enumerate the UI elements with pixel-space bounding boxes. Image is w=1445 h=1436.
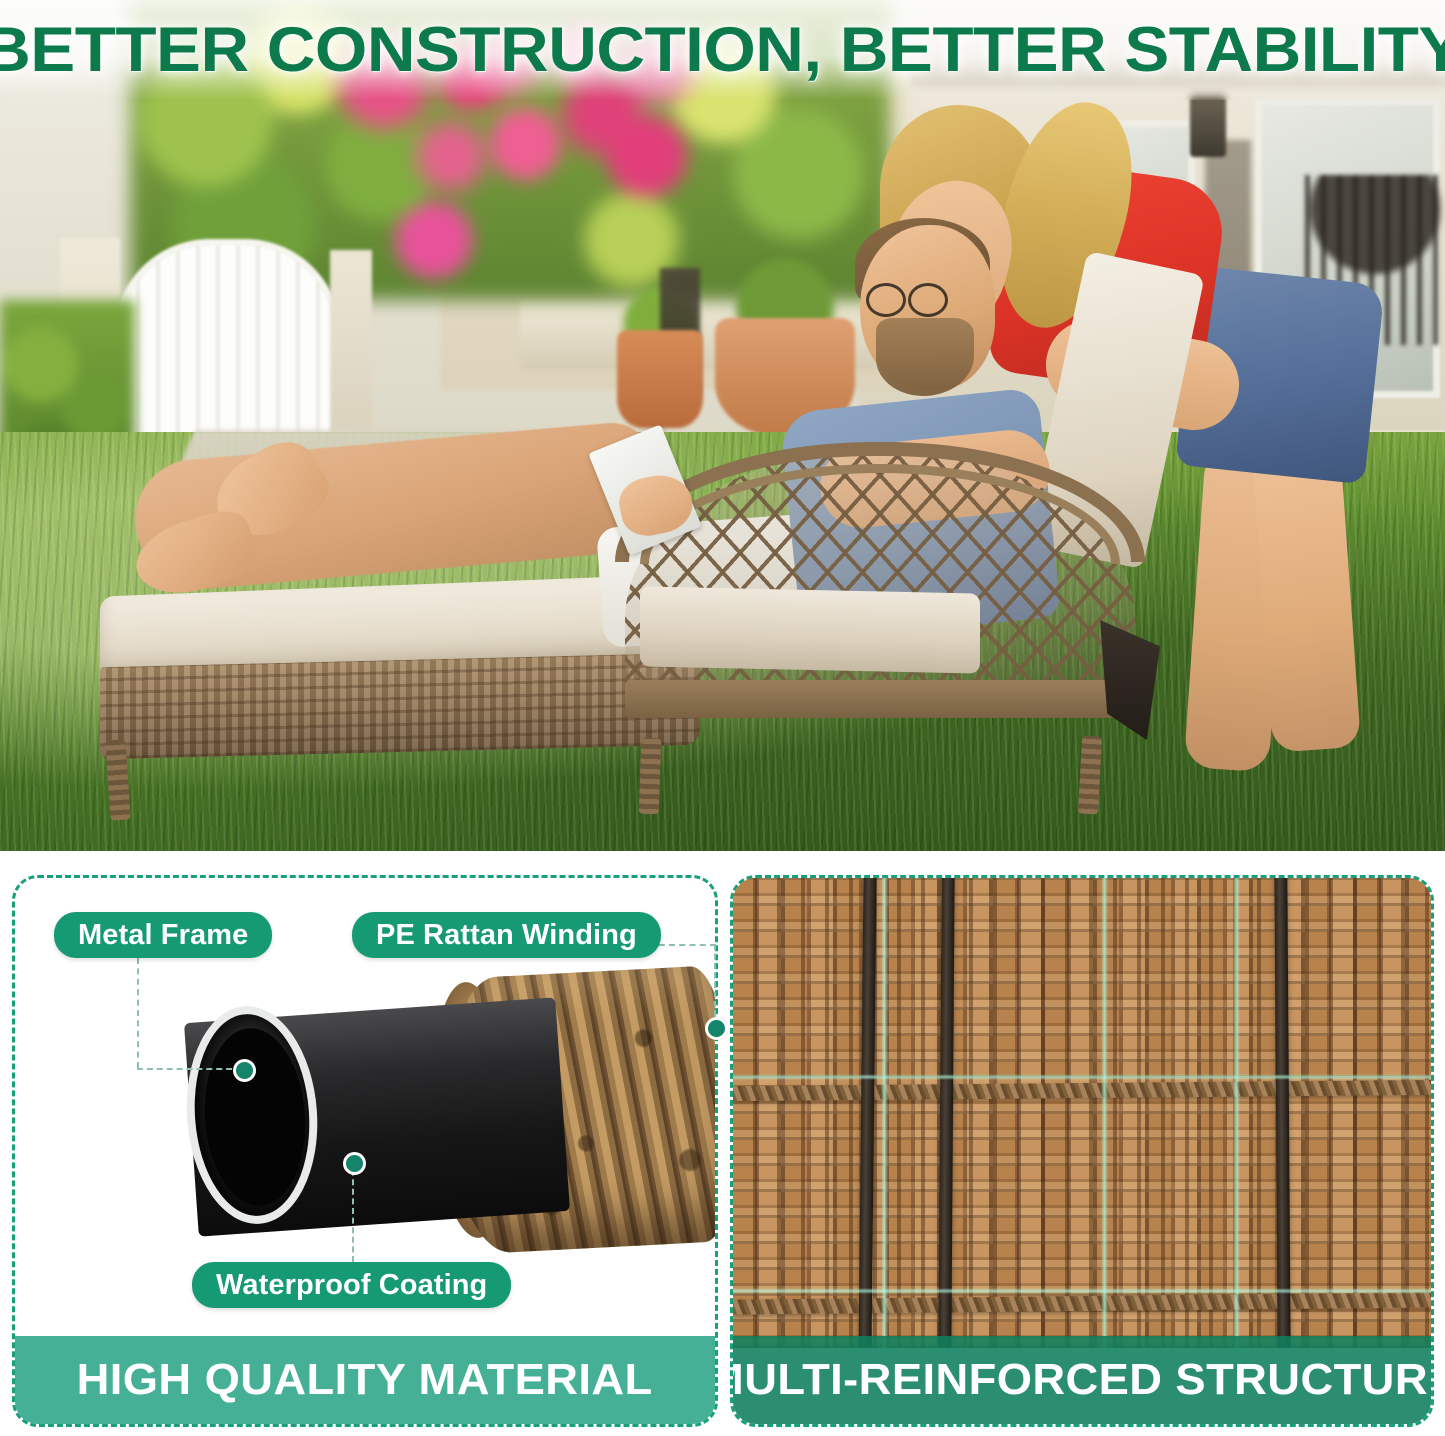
callout-dot-waterproof	[343, 1152, 366, 1175]
leader-line-waterproof-vertical	[352, 1160, 354, 1262]
highlight-glow	[733, 1074, 1434, 1080]
highlight-glow	[881, 878, 888, 1348]
caption-text: MULTI-REINFORCED STRUCTURE	[730, 1355, 1434, 1405]
callout-dot-pe-rattan	[705, 1017, 728, 1040]
porch-lamp	[1190, 95, 1226, 157]
leader-line-metal-frame-horizontal	[137, 1068, 242, 1070]
hero-lifestyle-photo	[0, 0, 1445, 851]
callout-label-pe-rattan-winding[interactable]: PE Rattan Winding	[352, 912, 661, 958]
page-title: BETTER CONSTRUCTION, BETTER STABILITY	[0, 14, 1445, 86]
callout-label-waterproof-coating[interactable]: Waterproof Coating	[192, 1262, 511, 1308]
rattan-weave-brick-pattern	[733, 878, 1434, 1348]
callout-label-text: PE Rattan Winding	[376, 919, 637, 952]
caption-text: HIGH QUALITY MATERIAL	[77, 1355, 653, 1405]
recliner-bracket	[1100, 620, 1160, 740]
leader-line-metal-frame-vertical	[137, 958, 139, 1068]
panel-multi-reinforced-structure: MULTI-REINFORCED STRUCTURE	[730, 875, 1434, 1427]
hero-photo-section: BETTER CONSTRUCTION, BETTER STABILITY	[0, 0, 1445, 851]
callout-label-text: Waterproof Coating	[216, 1269, 487, 1302]
seat-cushion-rear	[640, 586, 980, 673]
callout-dot-metal-frame	[233, 1059, 256, 1082]
eyeglasses-icon	[866, 283, 952, 313]
terracotta-pot	[617, 330, 703, 428]
highlight-glow	[1233, 878, 1240, 1348]
callout-label-text: Metal Frame	[78, 919, 248, 952]
product-infographic-page: BETTER CONSTRUCTION, BETTER STABILITY HI…	[0, 0, 1445, 1436]
callout-label-metal-frame[interactable]: Metal Frame	[54, 912, 272, 958]
chaise-lounge-arm-group	[80, 560, 1170, 830]
lattice-arm-bottom-rail	[625, 680, 1135, 718]
leader-line-pe-rattan-vertical	[714, 944, 716, 1026]
highlight-glow	[1101, 878, 1108, 1348]
panel-caption-high-quality-material: HIGH QUALITY MATERIAL	[15, 1336, 715, 1424]
woven-rattan-closeup-artwork	[733, 878, 1434, 1348]
highlight-glow	[733, 1288, 1434, 1294]
panel-caption-multi-reinforced-structure: MULTI-REINFORCED STRUCTURE	[733, 1336, 1431, 1424]
